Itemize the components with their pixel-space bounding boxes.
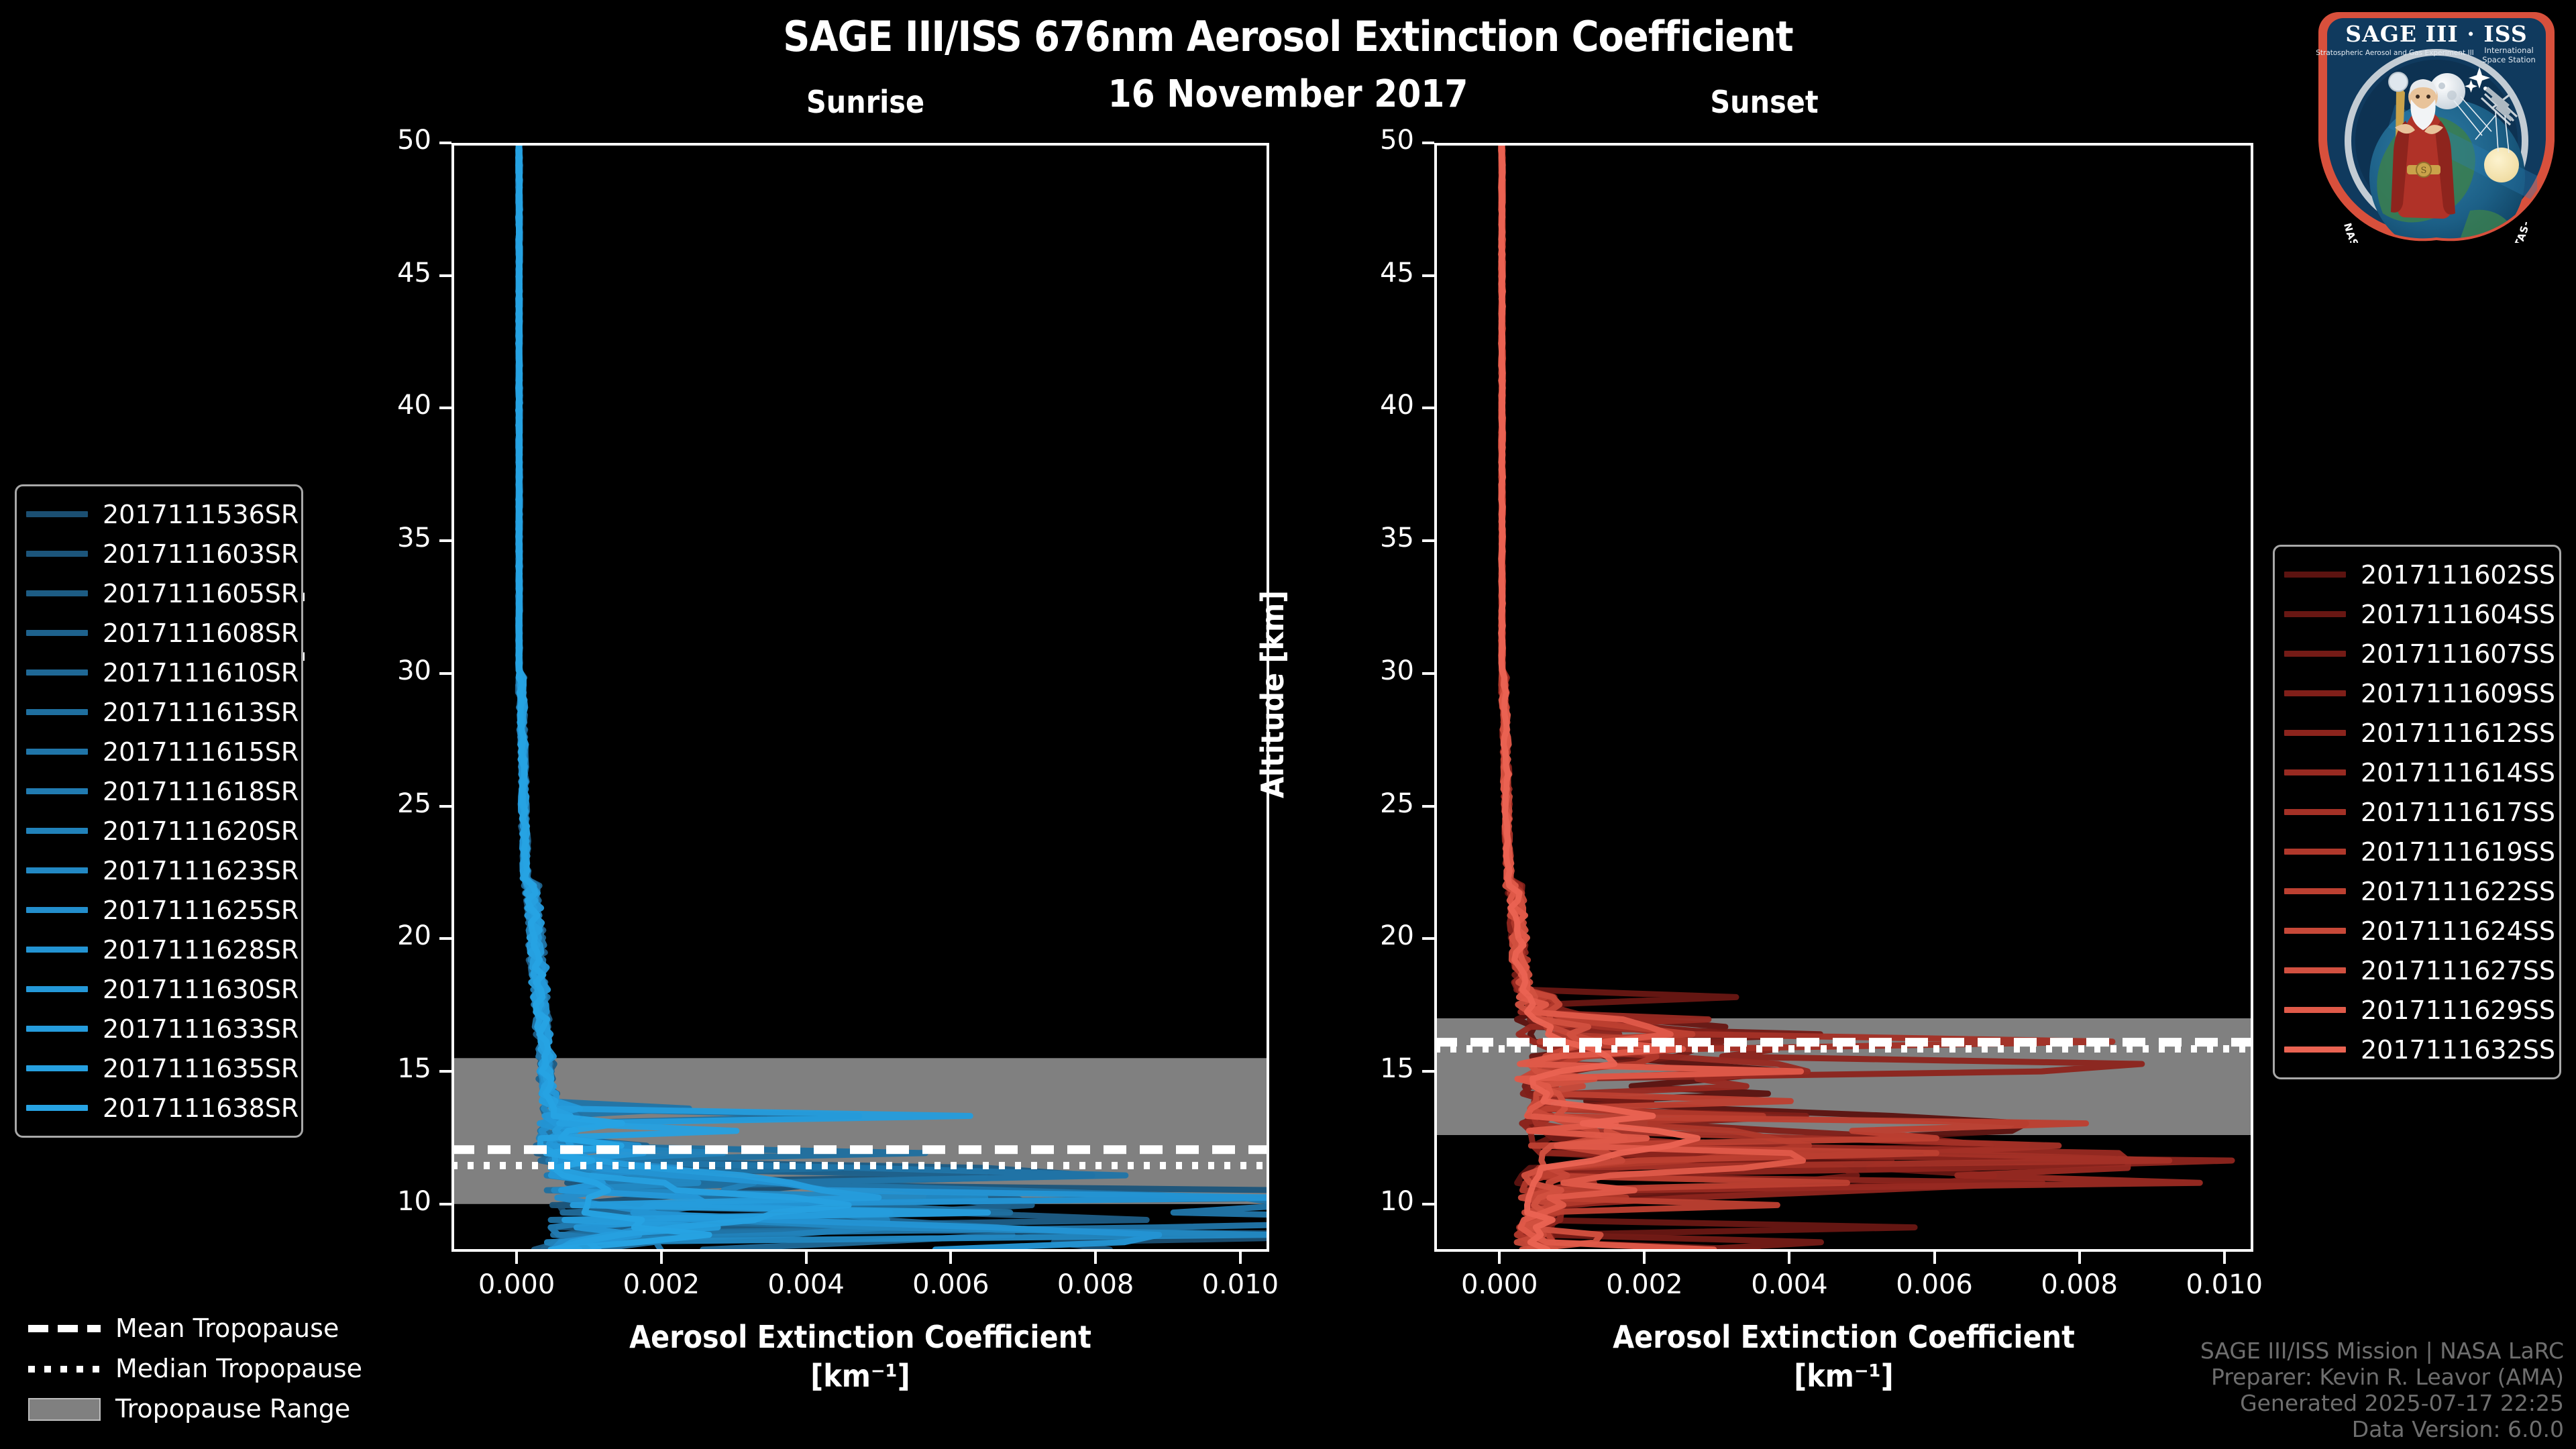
y-tick [439, 539, 451, 542]
sunset-plot-panel: 0.0000.0020.0040.0060.0080.0101015202530… [1434, 143, 2253, 1252]
legend-label: 2017111635SR [103, 1054, 299, 1083]
sunset-legend-item[interactable]: 2017111627SS [2284, 951, 2547, 990]
sunset-legend-item[interactable]: 2017111622SS [2284, 871, 2547, 911]
sunset-legend-item[interactable]: 2017111604SS [2284, 594, 2547, 634]
legend-label-tropopause-range: Tropopause Range [115, 1394, 350, 1424]
x-tick [2078, 1252, 2081, 1264]
y-tick [439, 274, 451, 277]
legend-color-swatch [2284, 849, 2346, 855]
sunrise-legend-item[interactable]: 2017111635SR [26, 1049, 289, 1088]
legend-label: 2017111632SS [2361, 1035, 2555, 1065]
sunset-legend-item[interactable]: 2017111624SS [2284, 911, 2547, 951]
y-tick [439, 805, 451, 808]
sunrise-legend-item[interactable]: 2017111536SR [26, 494, 289, 534]
y-tick [1422, 1203, 1434, 1205]
legend-label-mean-tropopause: Mean Tropopause [115, 1313, 339, 1343]
x-tick-label: 0.002 [606, 1269, 716, 1300]
x-axis-unit-label: [km⁻¹] [451, 1358, 1269, 1394]
sunrise-legend-item[interactable]: 2017111615SR [26, 732, 289, 771]
y-tick-label: 30 [1307, 655, 1414, 686]
legend-label: 2017111615SR [103, 737, 299, 767]
y-tick-label: 50 [1307, 125, 1414, 156]
legend-item-tropopause-range: Tropopause Range [28, 1389, 362, 1429]
legend-color-swatch [26, 986, 88, 992]
legend-color-swatch [26, 1065, 88, 1071]
x-tick-label: 0.010 [1185, 1269, 1295, 1300]
legend-color-swatch [26, 1026, 88, 1032]
legend-label: 2017111638SR [103, 1093, 299, 1123]
sunrise-legend-item[interactable]: 2017111608SR [26, 613, 289, 653]
x-axis-label: Aerosol Extinction Coefficient [451, 1319, 1269, 1355]
y-tick-label: 40 [324, 390, 431, 421]
footer-line-preparer: Preparer: Kevin R. Leavor (AMA) [2200, 1364, 2564, 1390]
y-tick [1422, 805, 1434, 808]
legend-color-swatch [2284, 730, 2346, 736]
sage-iii-iss-mission-patch-icon: S SAGE III · ISS Stratospheric Aerosol a… [2316, 9, 2557, 243]
y-tick [1422, 937, 1434, 940]
legend-label: 2017111614SS [2361, 758, 2555, 788]
sunrise-legend-item[interactable]: 2017111618SR [26, 771, 289, 811]
legend-color-swatch [2284, 888, 2346, 894]
legend-label: 2017111610SR [103, 658, 299, 688]
y-tick-label: 25 [1307, 788, 1414, 819]
y-tick-label: 20 [324, 920, 431, 951]
sunset-legend-item[interactable]: 2017111607SS [2284, 634, 2547, 674]
sunset-legend[interactable]: 2017111602SS2017111604SS2017111607SS2017… [2273, 545, 2561, 1079]
legend-item-median-tropopause: Median Tropopause [28, 1348, 362, 1389]
y-tick [1422, 672, 1434, 675]
legend-label: 2017111624SS [2361, 916, 2555, 946]
sunrise-legend[interactable]: 2017111536SR2017111603SR2017111605SR2017… [15, 484, 303, 1138]
sunrise-legend-item[interactable]: 2017111610SR [26, 653, 289, 692]
y-tick-label: 10 [1307, 1186, 1414, 1217]
y-axis-label: Altitude [km] [1254, 590, 1291, 798]
sunrise-legend-item[interactable]: 2017111605SR [26, 574, 289, 613]
legend-color-swatch [26, 867, 88, 873]
x-tick [949, 1252, 952, 1264]
sunset-legend-item[interactable]: 2017111632SS [2284, 1030, 2547, 1069]
sunset-legend-item[interactable]: 2017111612SS [2284, 713, 2547, 753]
y-tick-label: 45 [324, 258, 431, 288]
sunrise-plot-panel: 0.0000.0020.0040.0060.0080.0101015202530… [451, 143, 1269, 1252]
legend-label: 2017111628SR [103, 935, 299, 965]
sunrise-legend-item[interactable]: 2017111613SR [26, 692, 289, 732]
legend-label: 2017111613SR [103, 698, 299, 727]
legend-color-swatch [26, 511, 88, 517]
legend-label: 2017111604SS [2361, 600, 2555, 629]
x-axis-label: Aerosol Extinction Coefficient [1434, 1319, 2253, 1355]
legend-label: 2017111629SS [2361, 996, 2555, 1025]
dotted-line-icon [28, 1362, 101, 1375]
legend-label: 2017111619SS [2361, 837, 2555, 867]
legend-color-swatch [26, 551, 88, 557]
y-tick [1422, 274, 1434, 277]
sunrise-panel-title: Sunrise [745, 84, 986, 120]
sunset-legend-item[interactable]: 2017111602SS [2284, 555, 2547, 594]
x-tick [1933, 1252, 1936, 1264]
legend-label: 2017111633SR [103, 1014, 299, 1044]
y-tick [1422, 1070, 1434, 1073]
legend-label: 2017111627SS [2361, 956, 2555, 985]
page-title: SAGE III/ISS 676nm Aerosol Extinction Co… [0, 12, 2576, 61]
legend-color-swatch [2284, 690, 2346, 696]
x-tick-label: 0.008 [2025, 1269, 2135, 1300]
legend-label: 2017111617SS [2361, 798, 2555, 827]
legend-label: 2017111623SR [103, 856, 299, 885]
legend-label: 2017111536SR [103, 500, 299, 529]
legend-color-swatch [2284, 809, 2346, 815]
x-tick [1094, 1252, 1097, 1264]
legend-label: 2017111607SS [2361, 639, 2555, 669]
sunrise-legend-item[interactable]: 2017111603SR [26, 534, 289, 574]
footer-line-version: Data Version: 6.0.0 [2200, 1416, 2564, 1442]
svg-text:S: S [2421, 166, 2427, 176]
y-tick [1422, 142, 1434, 144]
x-tick-label: 0.006 [1880, 1269, 1990, 1300]
x-tick [515, 1252, 518, 1264]
legend-color-swatch [2284, 1046, 2346, 1053]
legend-color-swatch [26, 788, 88, 794]
filled-band-icon [28, 1402, 101, 1415]
legend-color-swatch [26, 630, 88, 636]
y-tick-label: 10 [324, 1186, 431, 1217]
y-tick-label: 20 [1307, 920, 1414, 951]
legend-color-swatch [2284, 967, 2346, 973]
legend-color-swatch [26, 907, 88, 913]
sunset-legend-item[interactable]: 2017111614SS [2284, 753, 2547, 792]
y-tick [439, 1070, 451, 1073]
x-tick-label: 0.008 [1040, 1269, 1150, 1300]
x-tick [1498, 1252, 1501, 1264]
patch-subtitle-left: Stratospheric Aerosol and Gas Experiment… [2316, 49, 2474, 57]
sunrise-legend-item[interactable]: 2017111638SR [26, 1088, 289, 1128]
legend-color-swatch [26, 1105, 88, 1111]
y-tick-label: 35 [324, 523, 431, 553]
y-tick-label: 40 [1307, 390, 1414, 421]
legend-item-mean-tropopause: Mean Tropopause [28, 1308, 362, 1348]
legend-label: 2017111602SS [2361, 560, 2555, 590]
legend-color-swatch [26, 709, 88, 715]
plot-frame [1434, 143, 2253, 1252]
legend-label: 2017111620SR [103, 816, 299, 846]
y-tick [439, 937, 451, 940]
x-tick [1239, 1252, 1242, 1264]
legend-color-swatch [26, 669, 88, 676]
x-tick-label: 0.006 [896, 1269, 1006, 1300]
legend-label: 2017111609SS [2361, 679, 2555, 708]
legend-color-swatch [2284, 572, 2346, 578]
y-tick [439, 142, 451, 144]
y-tick [439, 407, 451, 409]
sunrise-legend-item[interactable]: 2017111633SR [26, 1009, 289, 1049]
dashed-line-icon [28, 1322, 101, 1335]
x-tick-label: 0.004 [1734, 1269, 1844, 1300]
x-tick [660, 1252, 663, 1264]
plot-frame [451, 143, 1269, 1252]
sunrise-legend-item[interactable]: 2017111628SR [26, 930, 289, 969]
x-tick [1643, 1252, 1646, 1264]
x-tick-label: 0.004 [751, 1269, 861, 1300]
x-tick [805, 1252, 808, 1264]
legend-color-swatch [2284, 928, 2346, 934]
legend-label: 2017111605SR [103, 579, 299, 608]
y-tick-label: 15 [324, 1053, 431, 1084]
patch-subtitle-right-1: International [2484, 46, 2533, 55]
legend-color-swatch [2284, 651, 2346, 657]
legend-label: 2017111612SS [2361, 718, 2555, 748]
x-tick [1788, 1252, 1790, 1264]
y-tick [439, 1203, 451, 1205]
y-tick-label: 30 [324, 655, 431, 686]
tropopause-legend: Mean Tropopause Median Tropopause Tropop… [28, 1308, 362, 1429]
y-tick-label: 15 [1307, 1053, 1414, 1084]
sunset-legend-item[interactable]: 2017111617SS [2284, 792, 2547, 832]
y-tick-label: 25 [324, 788, 431, 819]
footer-line-mission: SAGE III/ISS Mission | NASA LaRC [2200, 1338, 2564, 1364]
sunset-legend-item[interactable]: 2017111619SS [2284, 832, 2547, 871]
x-tick-label: 0.010 [2169, 1269, 2279, 1300]
legend-color-swatch [26, 590, 88, 596]
legend-color-swatch [26, 749, 88, 755]
y-tick [1422, 407, 1434, 409]
y-tick-label: 50 [324, 125, 431, 156]
legend-color-swatch [26, 828, 88, 834]
y-tick [1422, 539, 1434, 542]
sunrise-legend-item[interactable]: 2017111625SR [26, 890, 289, 930]
legend-label: 2017111608SR [103, 619, 299, 648]
y-tick-label: 35 [1307, 523, 1414, 553]
sunset-legend-item[interactable]: 2017111629SS [2284, 990, 2547, 1030]
sunrise-legend-item[interactable]: 2017111620SR [26, 811, 289, 851]
legend-label: 2017111622SS [2361, 877, 2555, 906]
footer-credits: SAGE III/ISS Mission | NASA LaRC Prepare… [2200, 1338, 2564, 1442]
legend-label-median-tropopause: Median Tropopause [115, 1354, 362, 1383]
legend-label: 2017111603SR [103, 539, 299, 569]
date-subtitle: 16 November 2017 [0, 72, 2576, 116]
legend-color-swatch [2284, 769, 2346, 775]
x-tick-label: 0.000 [462, 1269, 572, 1300]
x-tick-label: 0.000 [1444, 1269, 1554, 1300]
patch-title: SAGE III · ISS [2345, 21, 2527, 47]
sunset-panel-title: Sunset [1644, 84, 1885, 120]
sunrise-legend-item[interactable]: 2017111623SR [26, 851, 289, 890]
legend-color-swatch [2284, 611, 2346, 617]
y-tick [439, 672, 451, 675]
x-tick [2223, 1252, 2226, 1264]
legend-color-swatch [2284, 1007, 2346, 1013]
patch-subtitle-right-2: Space Station [2482, 55, 2536, 64]
x-tick-label: 0.002 [1589, 1269, 1699, 1300]
legend-color-swatch [26, 947, 88, 953]
legend-label: 2017111625SR [103, 896, 299, 925]
footer-line-generated: Generated 2025-07-17 22:25 [2200, 1390, 2564, 1416]
legend-label: 2017111630SR [103, 975, 299, 1004]
legend-label: 2017111618SR [103, 777, 299, 806]
x-axis-unit-label: [km⁻¹] [1434, 1358, 2253, 1394]
sunrise-legend-item[interactable]: 2017111630SR [26, 969, 289, 1009]
y-tick-label: 45 [1307, 258, 1414, 288]
sunset-legend-item[interactable]: 2017111609SS [2284, 674, 2547, 713]
